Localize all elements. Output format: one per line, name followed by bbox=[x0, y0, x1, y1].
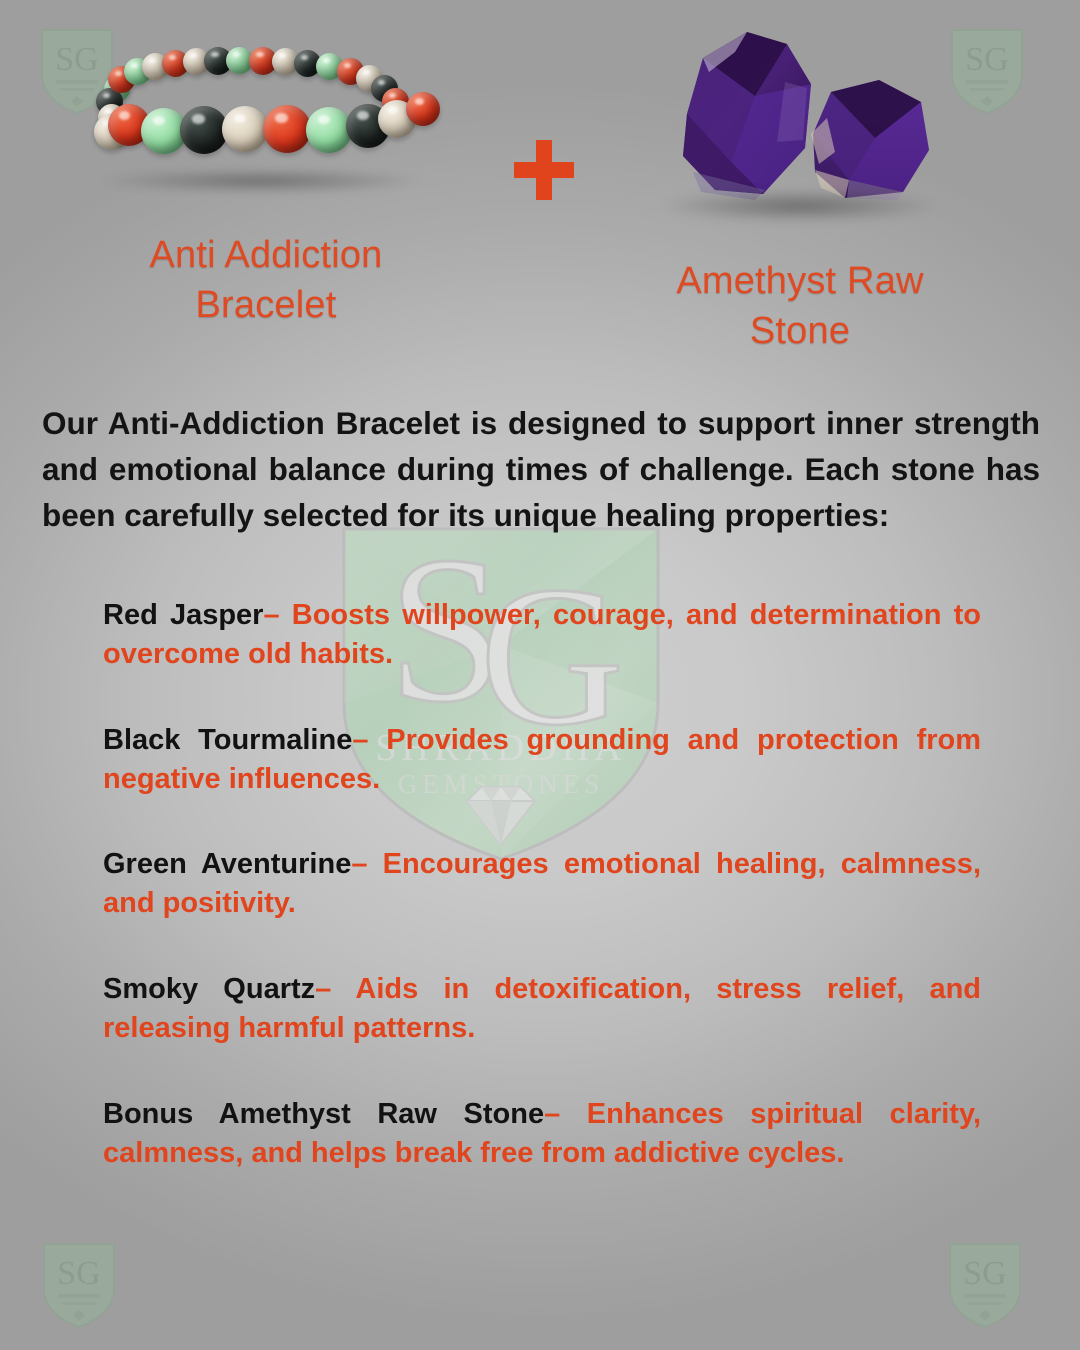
list-item: Black Tourmaline– Provides grounding and… bbox=[103, 721, 981, 799]
stone-name: Red Jasper bbox=[103, 599, 263, 631]
product-bracelet: Anti Addiction Bracelet bbox=[46, 22, 486, 330]
product-amethyst-title-line2: Stone bbox=[750, 310, 850, 352]
product-bracelet-title-line2: Bracelet bbox=[195, 284, 336, 326]
stone-benefits-list: Red Jasper– Boosts willpower, courage, a… bbox=[103, 596, 981, 1173]
poster-canvas: SG SG SG SG bbox=[0, 0, 1080, 1350]
product-bracelet-title-line1: Anti Addiction bbox=[149, 234, 382, 276]
svg-text:SG: SG bbox=[57, 1255, 100, 1292]
stone-dash: – bbox=[351, 848, 382, 880]
product-amethyst: Amethyst Raw Stone bbox=[600, 22, 1000, 356]
amethyst-drop-shadow bbox=[661, 190, 937, 222]
stone-name: Bonus Amethyst Raw Stone bbox=[103, 1098, 544, 1130]
corner-watermark-badge-bottom-left: SG bbox=[40, 1238, 118, 1330]
intro-paragraph: Our Anti-Addiction Bracelet is designed … bbox=[42, 400, 1040, 539]
stone-name: Black Tourmaline bbox=[103, 724, 352, 756]
corner-watermark-badge-bottom-right: SG bbox=[946, 1238, 1024, 1330]
amethyst-image bbox=[600, 22, 1000, 240]
product-amethyst-title: Amethyst Raw Stone bbox=[600, 256, 1000, 356]
bracelet-image bbox=[46, 22, 486, 222]
list-item: Green Aventurine– Encourages emotional h… bbox=[103, 845, 981, 923]
stone-dash: – bbox=[544, 1098, 587, 1130]
stone-dash: – bbox=[352, 724, 386, 756]
stone-name: Smoky Quartz bbox=[103, 973, 315, 1005]
list-item: Red Jasper– Boosts willpower, courage, a… bbox=[103, 596, 981, 674]
plus-icon bbox=[512, 138, 576, 202]
list-item: Bonus Amethyst Raw Stone– Enhances spiri… bbox=[103, 1095, 981, 1173]
svg-text:SG: SG bbox=[963, 1255, 1006, 1292]
stone-dash: – bbox=[315, 973, 355, 1005]
stone-name: Green Aventurine bbox=[103, 848, 351, 880]
list-item: Smoky Quartz– Aids in detoxification, st… bbox=[103, 970, 981, 1048]
stone-dash: – bbox=[263, 599, 291, 631]
bracelet-drop-shadow bbox=[96, 168, 426, 194]
product-comparison-row: Anti Addiction Bracelet bbox=[0, 22, 1080, 342]
product-amethyst-title-line1: Amethyst Raw bbox=[676, 260, 923, 302]
product-bracelet-title: Anti Addiction Bracelet bbox=[46, 230, 486, 330]
